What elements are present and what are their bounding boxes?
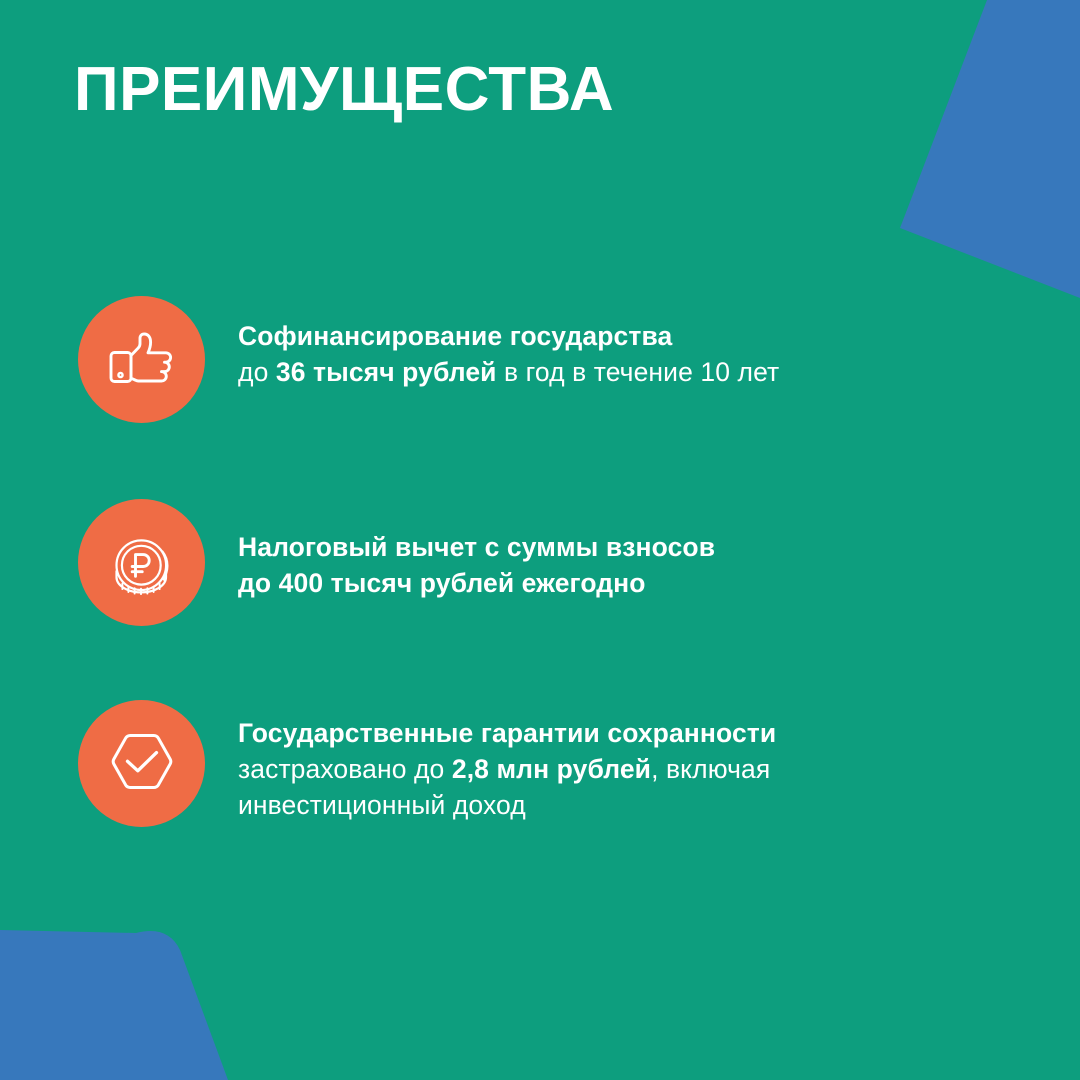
hexagon-check-icon [106, 728, 178, 800]
benefit-icon-badge [78, 499, 205, 626]
benefit-sub-suffix: в год в течение 10 лет [497, 357, 780, 387]
page-title: ПРЕИМУЩЕСТВА [74, 57, 614, 122]
benefit-title: Налоговый вычет с суммы взносов [238, 529, 715, 565]
benefit-sub-prefix: до [238, 357, 276, 387]
benefit-subtitle: до 36 тысяч рублей в год в течение 10 ле… [238, 354, 779, 390]
benefit-subtitle: застраховано до 2,8 млн рублей, включая [238, 751, 776, 787]
benefit-text-block: Налоговый вычет с суммы взносов до 400 т… [238, 499, 715, 601]
benefit-sub-prefix: застраховано до [238, 754, 452, 784]
benefit-item: Софинансирование государства до 36 тысяч… [78, 296, 1018, 423]
benefit-subtitle: до 400 тысяч рублей ежегодно [238, 565, 715, 601]
infographic-slide: ПРЕИМУЩЕСТВА Софинансирование государств… [0, 0, 1080, 1080]
thumbs-up-icon [106, 324, 178, 396]
benefit-item: Налоговый вычет с суммы взносов до 400 т… [78, 499, 1018, 626]
benefit-text-block: Софинансирование государства до 36 тысяч… [238, 296, 779, 390]
benefit-text-block: Государственные гарантии сохранности зас… [238, 700, 776, 823]
benefit-item: Государственные гарантии сохранности зас… [78, 700, 1018, 827]
benefit-sub-strong: 2,8 млн рублей [452, 754, 651, 784]
benefit-title: Государственные гарантии сохранности [238, 715, 776, 751]
benefit-icon-badge [78, 700, 205, 827]
top-right-blue-shape [900, 0, 1080, 298]
benefit-sub-strong: до 400 тысяч рублей ежегодно [238, 568, 646, 598]
benefit-icon-badge [78, 296, 205, 423]
benefit-subtitle-line2: инвестиционный доход [238, 787, 776, 823]
benefit-sub-strong: 36 тысяч рублей [276, 357, 497, 387]
bottom-left-blue-shape [0, 930, 228, 1080]
benefit-title: Софинансирование государства [238, 318, 779, 354]
ruble-coin-icon [106, 527, 178, 599]
benefit-sub-suffix: , включая [651, 754, 770, 784]
